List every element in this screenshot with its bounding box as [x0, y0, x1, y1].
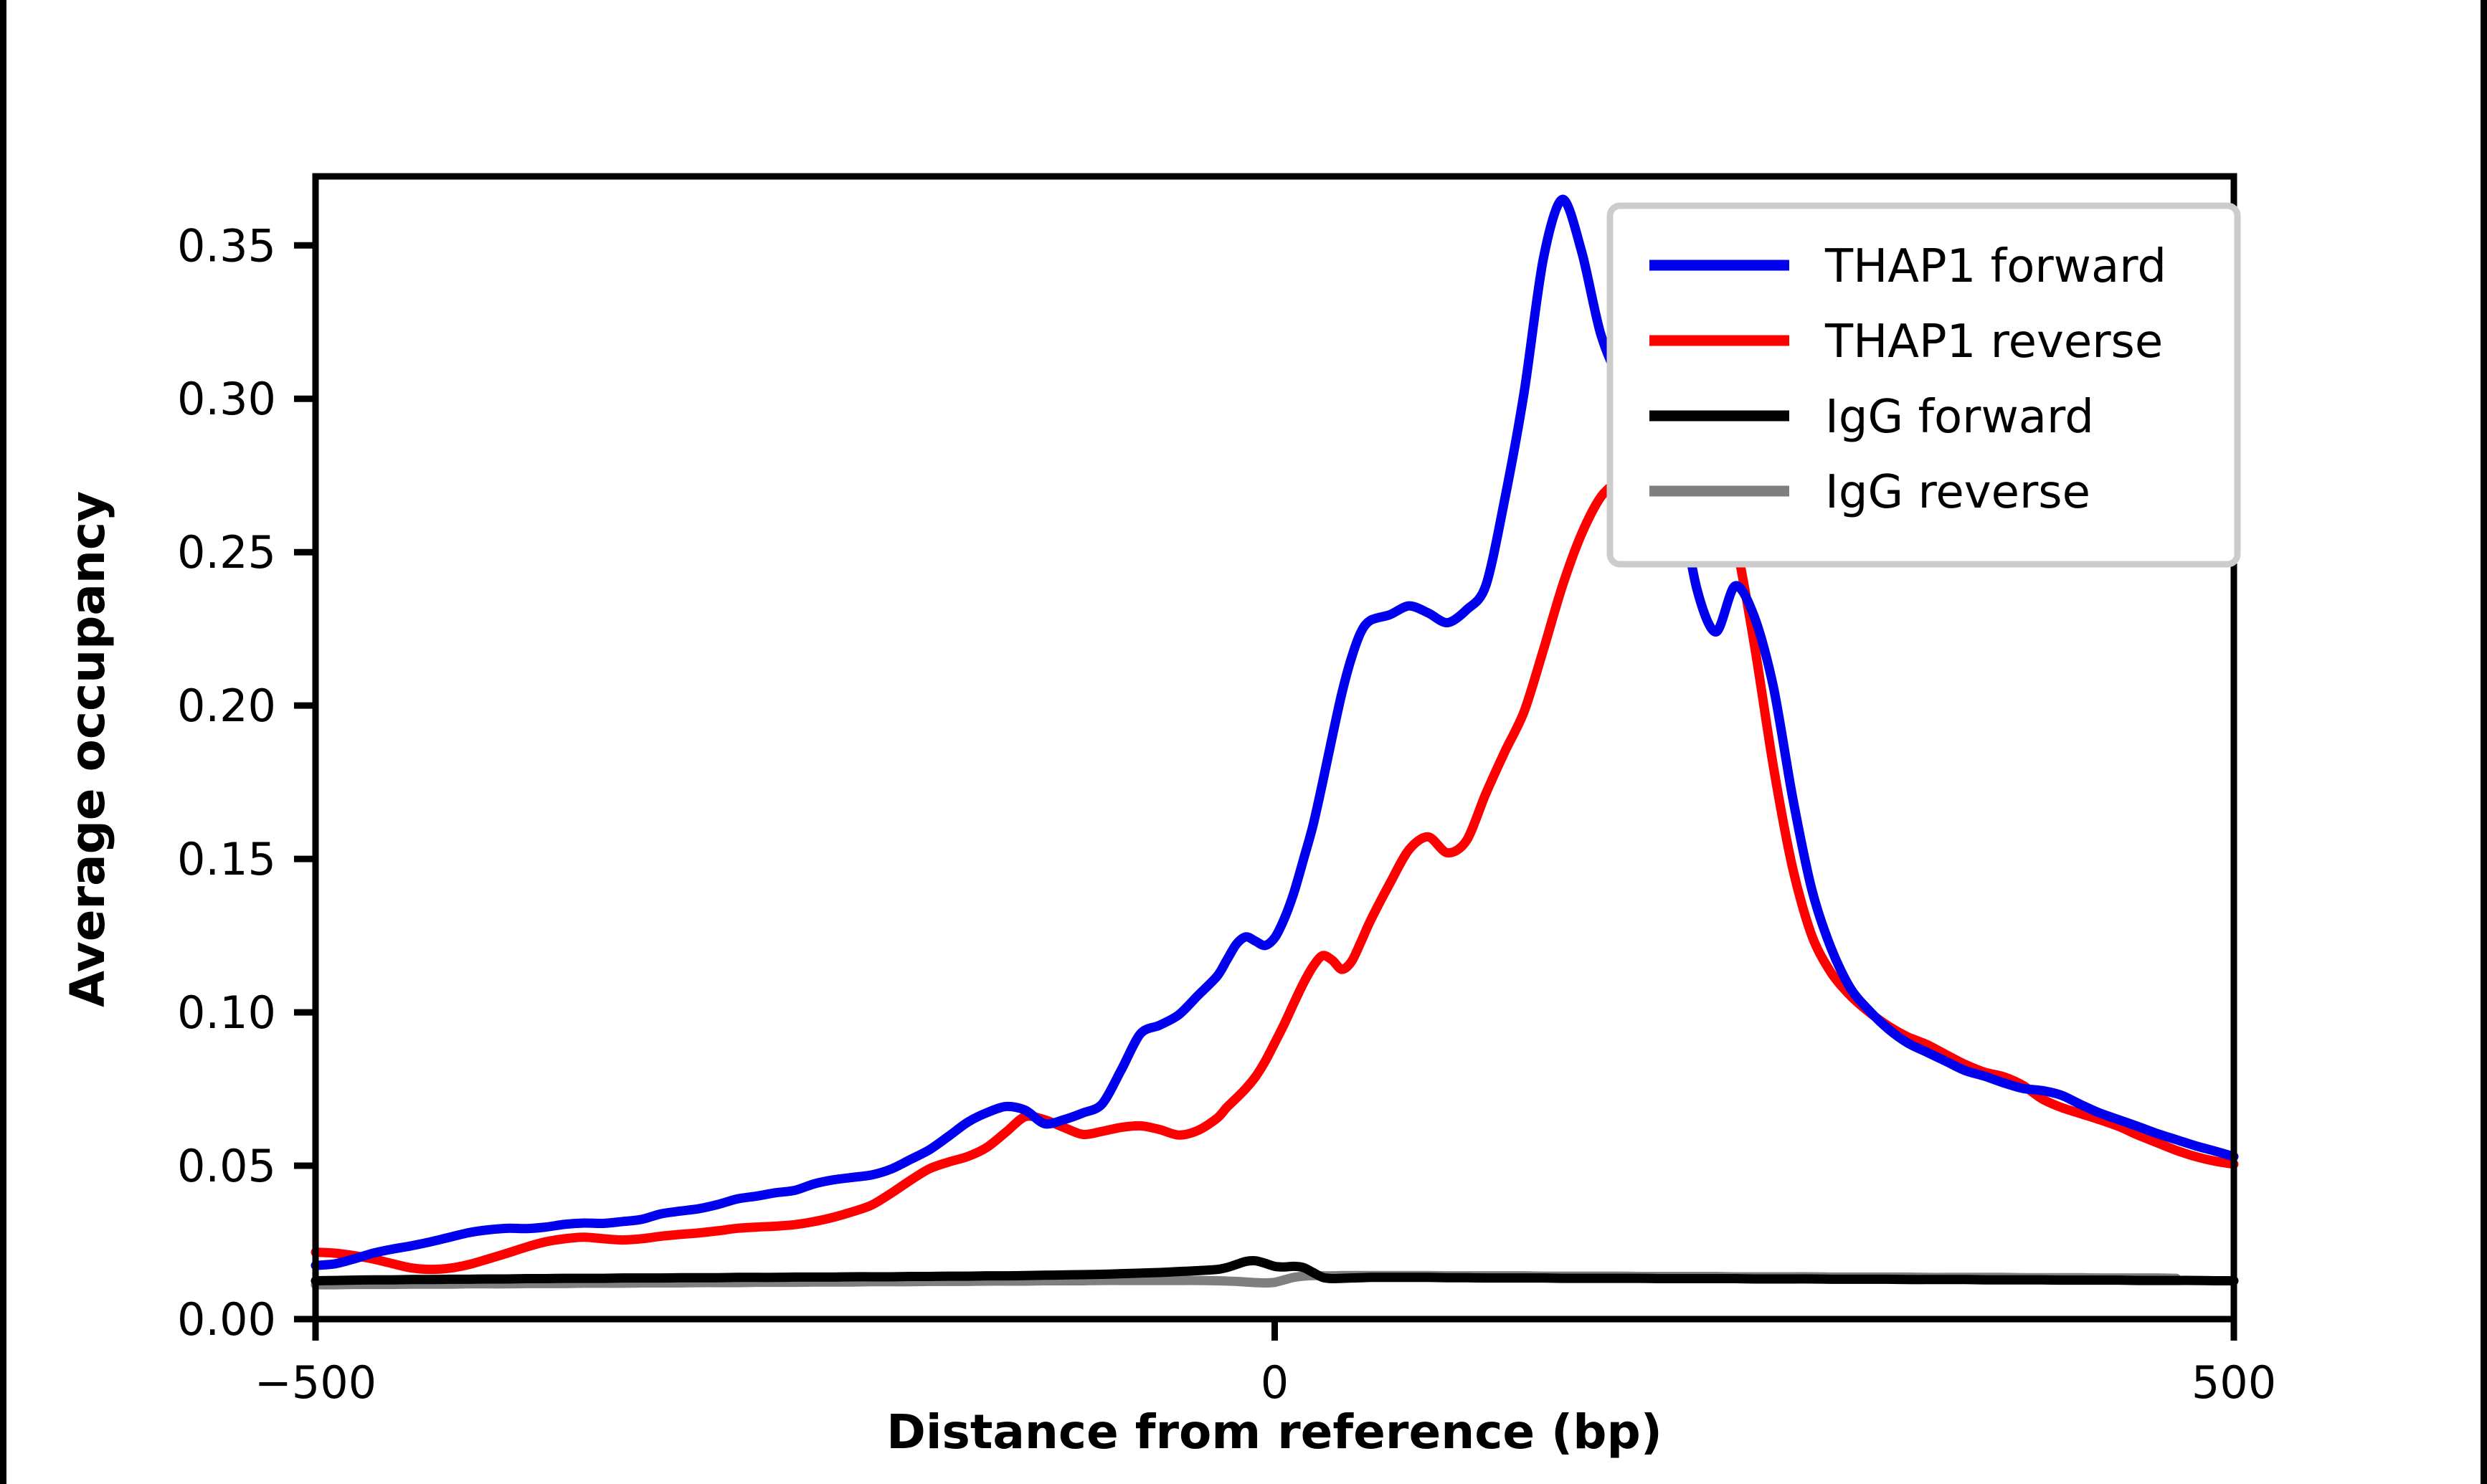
y-tick-label: 0.15 [177, 833, 276, 885]
x-axis-title: Distance from reference (bp) [886, 1404, 1662, 1460]
x-tick-label: 0 [1261, 1356, 1289, 1409]
y-tick-label: 0.20 [177, 680, 276, 732]
x-tick-label: 500 [2192, 1356, 2276, 1409]
legend-label: IgG reverse [1825, 466, 2090, 519]
y-tick-label: 0.00 [177, 1293, 276, 1346]
y-tick-label: 0.10 [177, 986, 276, 1039]
legend-label: THAP1 forward [1824, 240, 2166, 293]
legend[interactable]: THAP1 forwardTHAP1 reverseIgG forwardIgG… [1610, 206, 2237, 564]
legend-label: THAP1 reverse [1824, 315, 2163, 368]
y-tick-label: 0.25 [177, 526, 276, 579]
chart-plot: 0.000.050.100.150.200.250.300.35−5000500… [0, 0, 2487, 1484]
y-tick-label: 0.35 [177, 219, 276, 272]
legend-label: IgG forward [1825, 391, 2094, 444]
y-tick-label: 0.05 [177, 1140, 276, 1192]
figure-canvas: 0.000.050.100.150.200.250.300.35−5000500… [0, 0, 2487, 1484]
x-tick-label: −500 [255, 1356, 376, 1409]
y-axis-title: Average occupancy [60, 491, 115, 1007]
y-tick-label: 0.30 [177, 373, 276, 425]
